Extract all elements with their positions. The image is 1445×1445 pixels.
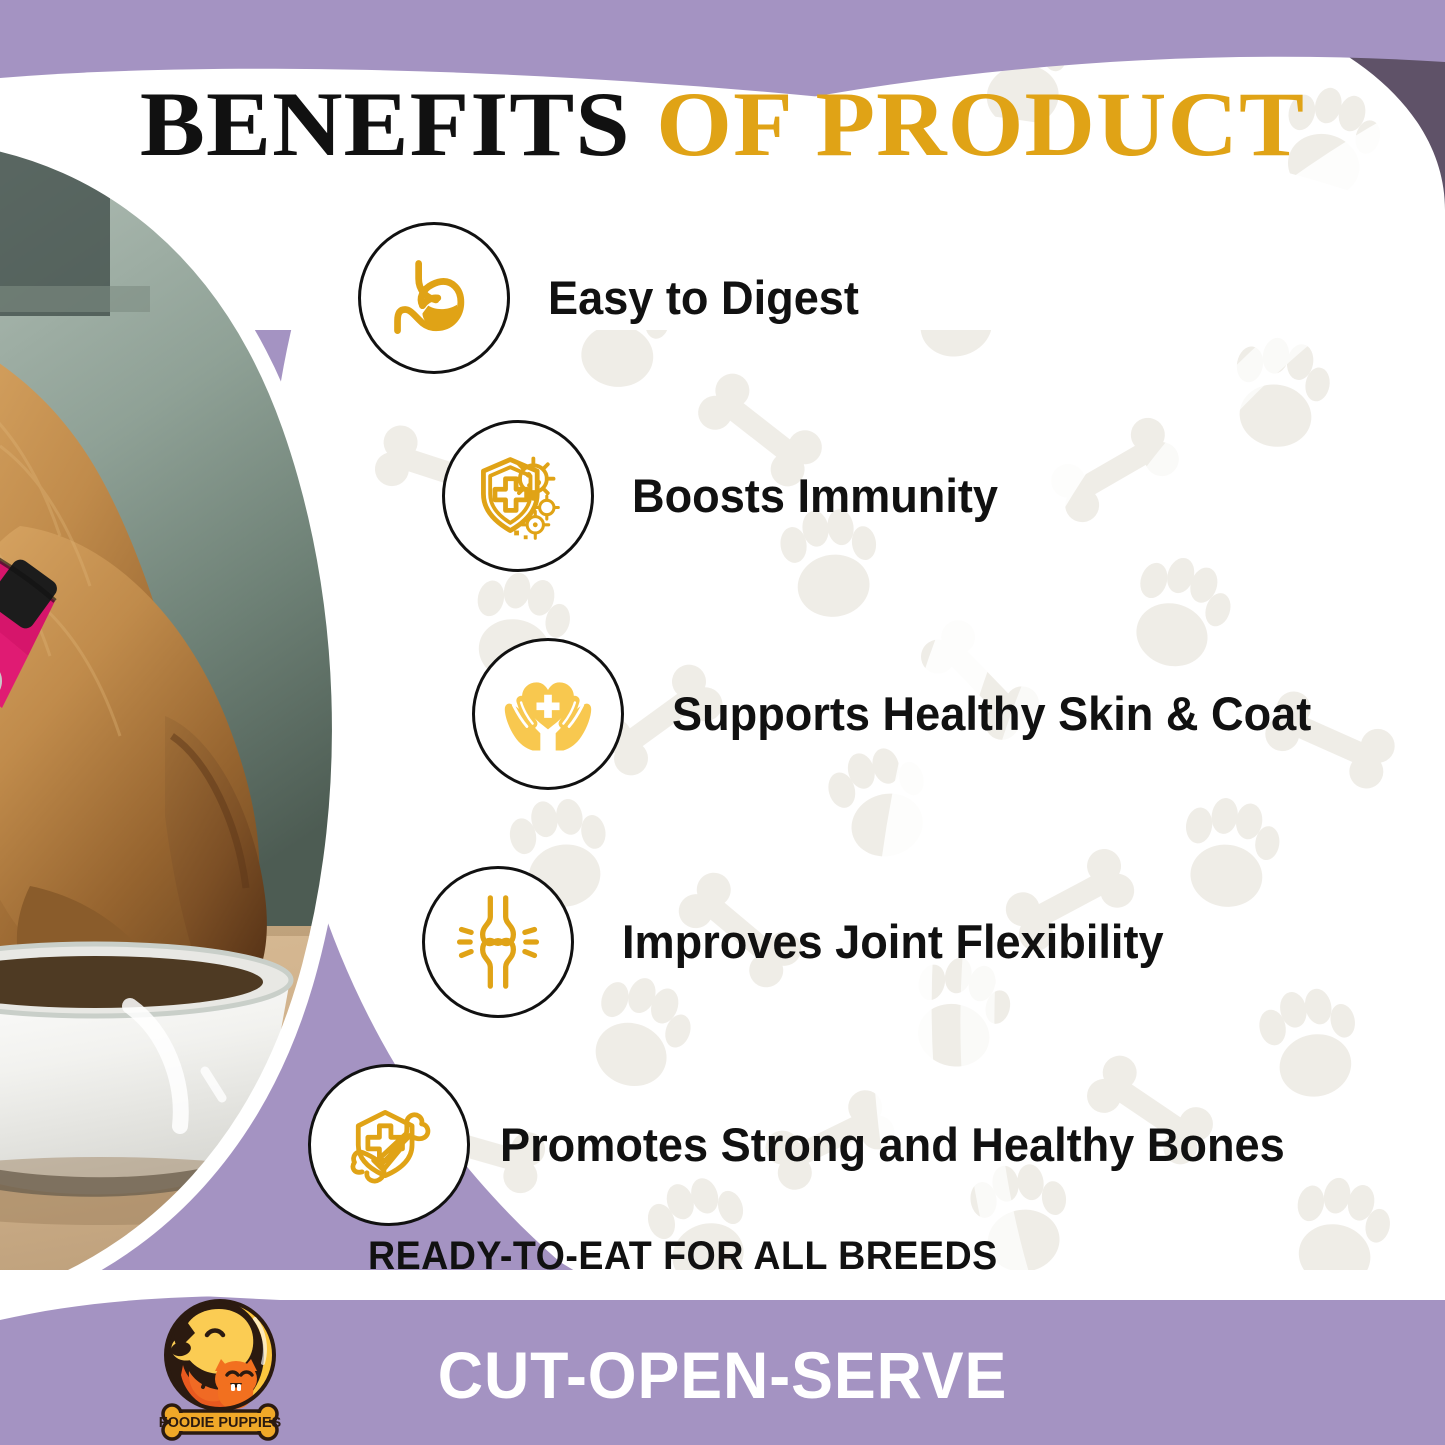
benefit-item-immunity: Boosts Immunity — [442, 420, 1013, 572]
benefit-icon-bubble — [442, 420, 594, 572]
benefit-icon-bubble — [308, 1064, 470, 1226]
bone-shield-icon — [341, 1097, 437, 1193]
stomach-icon — [386, 250, 482, 346]
logo-wordmark: FOODIE PUPPIES — [159, 1415, 282, 1431]
shield-germ-icon — [470, 448, 566, 544]
benefit-label: Supports Healthy Skin & Coat — [672, 689, 1311, 738]
benefits-list: Easy to Digest — [0, 0, 1445, 1445]
benefit-label: Improves Joint Flexibility — [622, 917, 1164, 966]
benefit-item-bones: Promotes Strong and Healthy Bones — [308, 1064, 1317, 1226]
joint-bone-icon — [450, 894, 546, 990]
benefit-label: Promotes Strong and Healthy Bones — [500, 1120, 1285, 1169]
benefits-poster: BENEFITS OF PRODUCT Easy to Digest — [0, 0, 1445, 1445]
hands-heart-icon — [500, 666, 596, 762]
benefit-icon-bubble — [422, 866, 574, 1018]
benefit-item-joint: Improves Joint Flexibility — [422, 866, 1186, 1018]
foodie-puppies-logo: FOODIE PUPPIES — [145, 1293, 295, 1443]
benefit-item-digest: Easy to Digest — [358, 222, 872, 374]
benefit-label: Easy to Digest — [548, 273, 859, 322]
benefit-icon-bubble — [472, 638, 624, 790]
benefit-icon-bubble — [358, 222, 510, 374]
ready-to-eat-text: READY-TO-EAT FOR ALL BREEDS — [368, 1234, 998, 1279]
benefit-item-skin-coat: Supports Healthy Skin & Coat — [472, 638, 1338, 790]
benefit-label: Boosts Immunity — [632, 471, 998, 520]
